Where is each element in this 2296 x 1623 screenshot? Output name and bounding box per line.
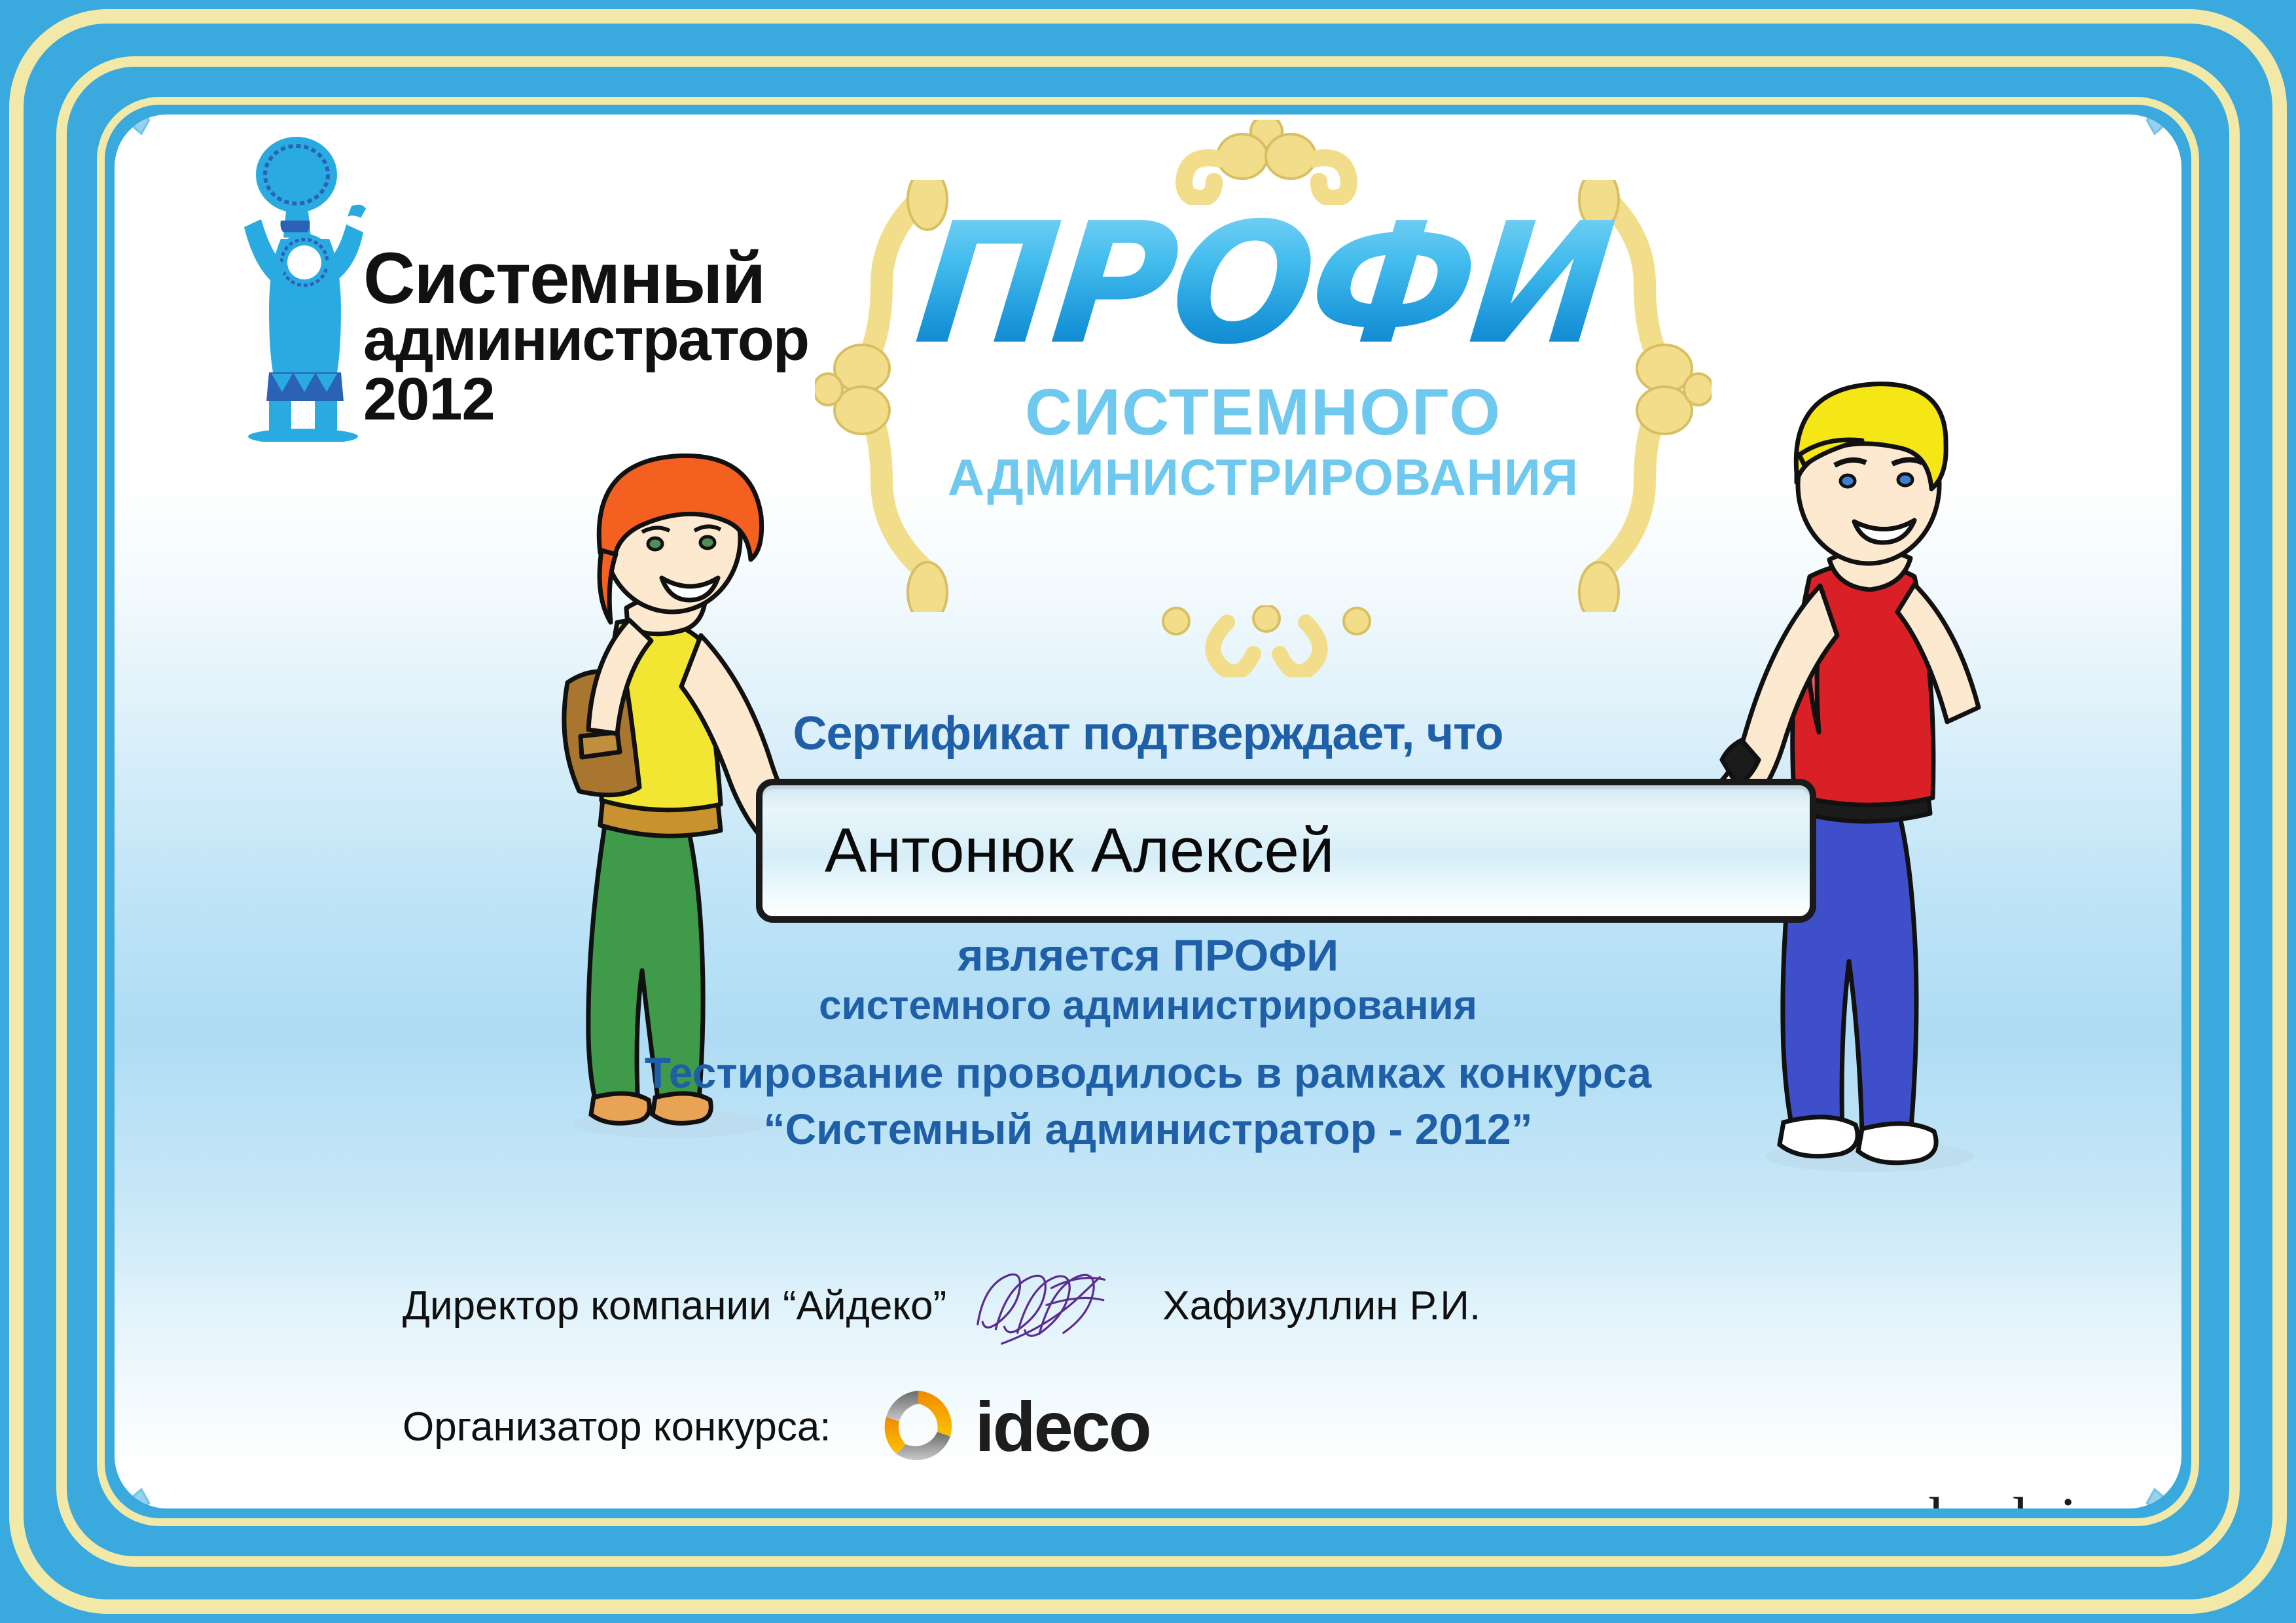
handwritten-signature-icon — [960, 1266, 1149, 1345]
ideco-logo: ideco — [877, 1385, 1150, 1468]
certificate-body: Системный администратор 2012 — [115, 115, 2181, 1508]
certificate-canvas: Системный администратор 2012 — [0, 0, 2296, 1623]
body-line-4: “Системный администратор - 2012” — [115, 1101, 2181, 1158]
signature-label: Директор компании “Айдеко” — [403, 1283, 946, 1329]
ideco-wordmark: ideco — [975, 1391, 1150, 1462]
body-line-3: Тестирование проводилось в рамках конкур… — [115, 1045, 2181, 1101]
event-logo-line3: 2012 — [363, 369, 808, 429]
event-logo-line1: Системный — [363, 245, 808, 312]
signature-name: Хафизуллин Р.И. — [1162, 1283, 1480, 1329]
gold-ornament-icon — [1149, 605, 1384, 677]
crimping-tool-icon — [115, 115, 187, 188]
signature-row: Директор компании “Айдеко” Хафизуллин Р.… — [403, 1266, 1581, 1345]
eskimo-mascot-icon — [213, 134, 383, 442]
event-logo-line2: администратор — [363, 312, 808, 368]
organizer-label: Организатор конкурса: — [403, 1404, 831, 1450]
title-block: ПРОФИ СИСТЕМНОГО АДМИНИСТРИРОВАНИЯ — [808, 154, 1718, 671]
body-line-2: системного администрирования — [115, 982, 2181, 1029]
bashim-wordmark: bash.im — [1925, 1490, 2130, 1508]
crimping-tool-icon — [115, 1435, 187, 1508]
confirm-line: Сертификат подтверждает, что — [115, 707, 2181, 760]
organizer-row: Организатор конкурса: — [403, 1378, 1150, 1476]
crimping-tool-icon — [2109, 115, 2181, 188]
body-copy: является ПРОФИ системного администрирова… — [115, 929, 2181, 1158]
title-profi: ПРОФИ — [800, 201, 1727, 368]
recipient-name-plate: Антонюк Алексей — [756, 779, 1816, 923]
ideco-ring-icon — [877, 1385, 960, 1468]
body-line-1: является ПРОФИ — [115, 929, 2181, 982]
recipient-name: Антонюк Алексей — [762, 815, 1335, 887]
partners-row: Партнеры конкурса: KASPERSKY lab Sky DNS — [403, 1492, 2181, 1508]
partner-logos: KASPERSKY lab Sky DNS Системный — [816, 1490, 2181, 1508]
partner-logo-bashim: bash.im ЦИТАТНИК РУНЕТА — [1925, 1490, 2130, 1508]
